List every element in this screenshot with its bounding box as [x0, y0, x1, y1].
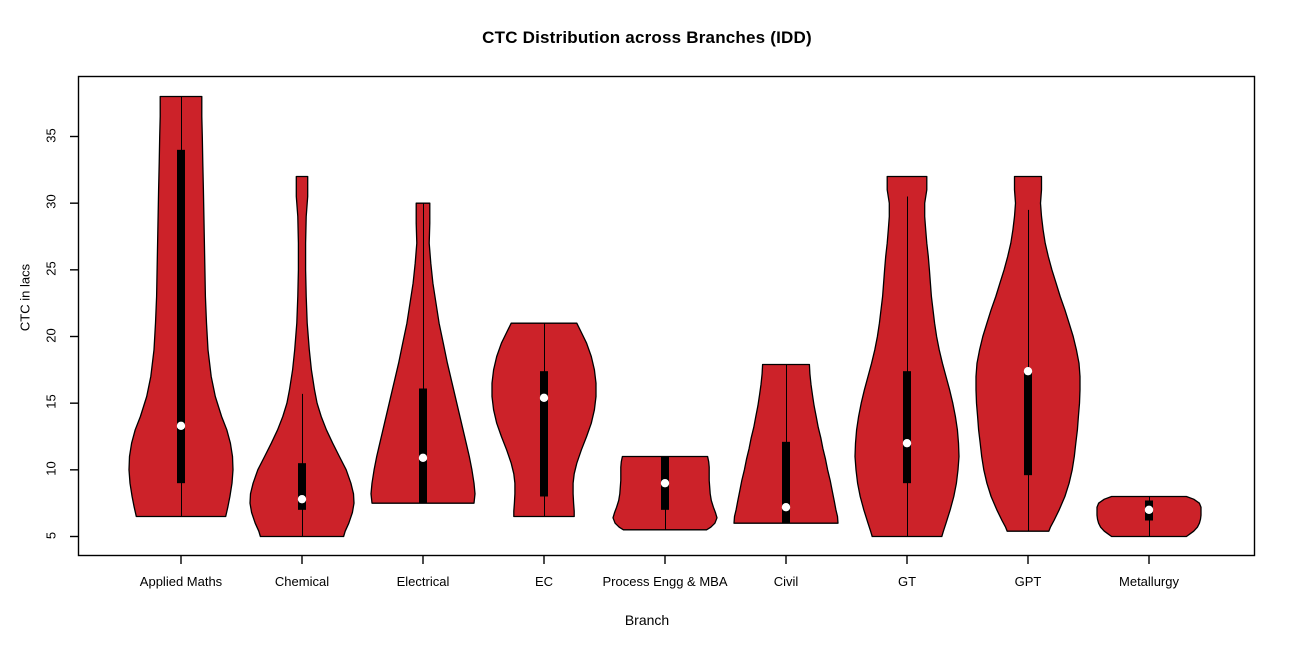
y-tick-label: 30 — [44, 187, 59, 217]
y-tick-label: 15 — [44, 387, 59, 417]
x-tick-label: Process Engg & MBA — [603, 574, 728, 589]
y-tick-label: 20 — [44, 320, 59, 350]
iqr-box — [903, 371, 911, 483]
violin-electrical — [371, 203, 475, 503]
violin-plot-figure: CTC Distribution across Branches (IDD) C… — [0, 0, 1294, 653]
iqr-box — [419, 389, 427, 504]
chart-plot-area — [0, 0, 1294, 653]
median-point — [661, 479, 669, 487]
iqr-box — [540, 371, 548, 496]
violin-gt — [855, 177, 959, 537]
y-tick-label: 35 — [44, 120, 59, 150]
x-tick-label: Civil — [774, 574, 799, 589]
y-tick-label: 10 — [44, 453, 59, 483]
median-point — [1145, 506, 1153, 514]
median-point — [177, 422, 185, 430]
y-tick-label: 5 — [44, 520, 59, 550]
x-tick-label: Chemical — [275, 574, 329, 589]
x-tick-label: Metallurgy — [1119, 574, 1179, 589]
median-point — [782, 503, 790, 511]
violin-process-engg-mba — [613, 457, 717, 530]
y-tick-label: 25 — [44, 253, 59, 283]
iqr-box — [177, 150, 185, 483]
iqr-box — [1024, 371, 1032, 475]
x-tick-label: GPT — [1015, 574, 1042, 589]
median-point — [298, 495, 306, 503]
violin-gpt — [976, 177, 1080, 532]
violin-metallurgy — [1097, 497, 1201, 537]
median-point — [903, 439, 911, 447]
median-point — [540, 394, 548, 402]
violin-ec — [492, 323, 596, 516]
violin-applied-maths — [129, 97, 233, 517]
x-tick-label: EC — [535, 574, 553, 589]
violin-civil — [734, 365, 838, 524]
x-tick-label: GT — [898, 574, 916, 589]
median-point — [419, 454, 427, 462]
x-tick-label: Electrical — [397, 574, 450, 589]
violin-chemical — [250, 177, 354, 537]
median-point — [1024, 367, 1032, 375]
x-tick-label: Applied Maths — [140, 574, 222, 589]
